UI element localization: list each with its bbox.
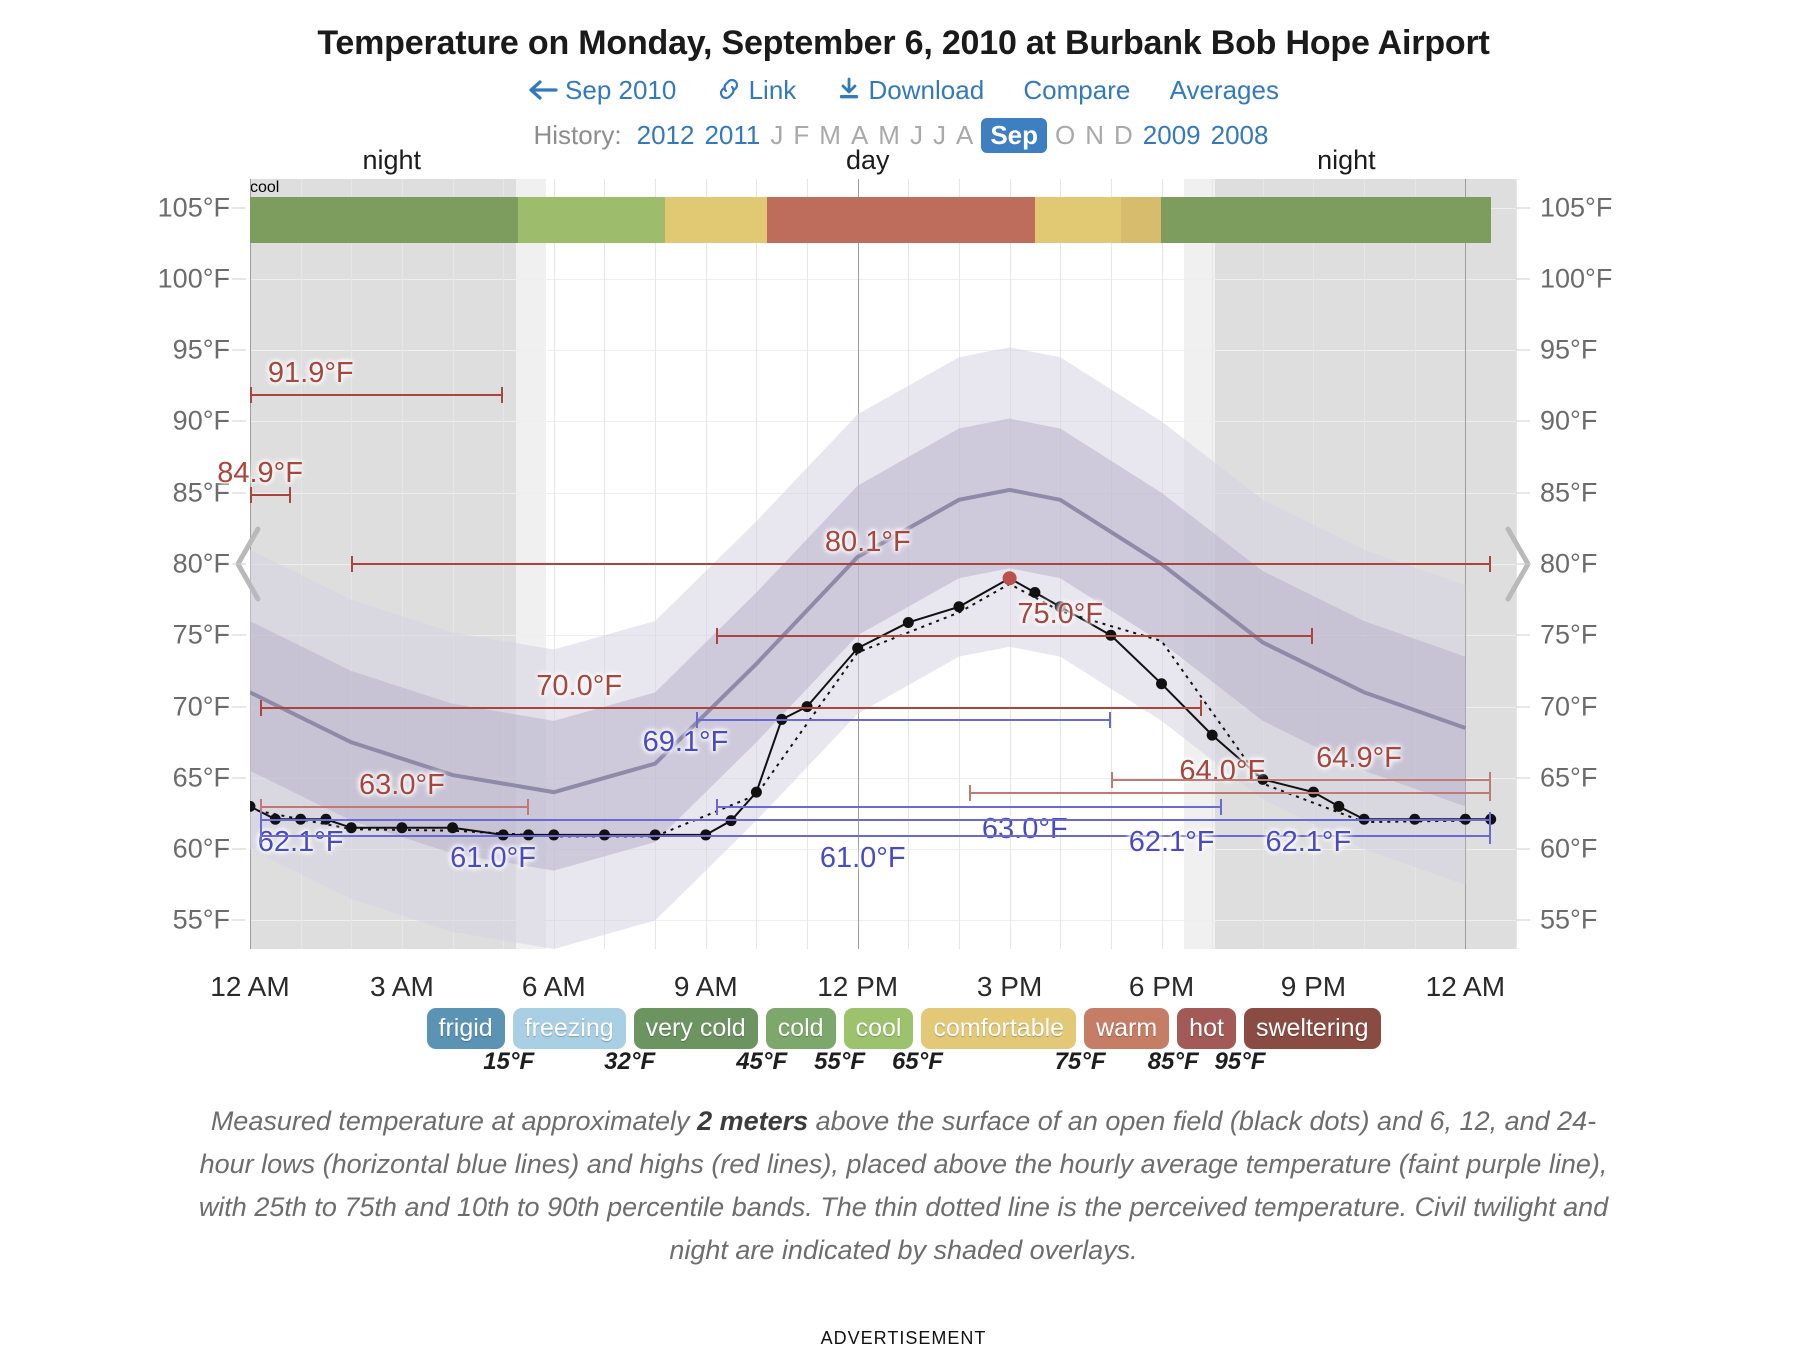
data-point	[1156, 678, 1167, 689]
legend-chip-comfortable[interactable]: comfortable	[921, 1008, 1076, 1049]
y-tick-label-left: 80°F	[173, 549, 230, 580]
y-tick-label-right: 70°F	[1540, 691, 1597, 722]
y-tick-label-right: 55°F	[1540, 905, 1597, 936]
link-label: Link	[749, 75, 797, 105]
advertisement-label: ADVERTISEMENT	[0, 1328, 1807, 1349]
data-point	[903, 617, 914, 628]
x-tick-label: 3 AM	[370, 971, 434, 1003]
high-marker-label: 84.9°F	[217, 457, 303, 490]
x-tick-label: 12 AM	[210, 971, 289, 1003]
x-tick-label: 12 PM	[817, 971, 898, 1003]
comfort-segment	[1161, 197, 1490, 243]
y-tick-mark	[1516, 421, 1530, 422]
page-title: Temperature on Monday, September 6, 2010…	[0, 0, 1807, 63]
legend-threshold-value: 15°F	[483, 1048, 534, 1076]
y-tick-label-left: 70°F	[173, 691, 230, 722]
y-tick-mark	[232, 421, 246, 422]
download-button[interactable]: Download	[836, 75, 985, 108]
data-point	[1333, 801, 1344, 812]
data-point	[1029, 587, 1040, 598]
y-tick-mark	[1516, 777, 1530, 778]
link-button[interactable]: Link	[716, 75, 797, 108]
day-night-band-label: night	[1202, 141, 1491, 179]
y-tick-label-right: 100°F	[1540, 263, 1612, 294]
legend-threshold-value: 85°F	[1148, 1048, 1199, 1076]
download-label: Download	[869, 75, 985, 105]
comfort-color-strip	[250, 197, 1516, 243]
legend-chip-hot[interactable]: hot	[1177, 1008, 1236, 1049]
y-tick-mark	[232, 706, 246, 707]
y-tick-mark	[1516, 278, 1530, 279]
comfort-segment	[665, 197, 766, 243]
y-tick-label-right: 80°F	[1540, 549, 1597, 580]
low-marker-label: 61.0°F	[820, 842, 906, 875]
y-tick-label-right: 95°F	[1540, 335, 1597, 366]
y-tick-mark	[232, 920, 246, 921]
x-tick-label: 9 AM	[674, 971, 738, 1003]
high-marker-label: 91.9°F	[268, 357, 354, 390]
high-marker-label: 70.0°F	[536, 670, 622, 703]
y-tick-mark	[1516, 635, 1530, 636]
y-tick-mark	[232, 849, 246, 850]
legend-threshold-value: 75°F	[1055, 1048, 1106, 1076]
low-marker-label: 61.0°F	[450, 842, 536, 875]
legend-chip-sweltering[interactable]: sweltering	[1244, 1008, 1381, 1049]
caption-emphasis: 2 meters	[697, 1106, 808, 1136]
data-point	[396, 822, 407, 833]
y-tick-label-left: 100°F	[158, 263, 230, 294]
legend-chip-very-cold[interactable]: very cold	[634, 1008, 758, 1049]
y-tick-label-right: 75°F	[1540, 620, 1597, 651]
temperature-chart: 105°F100°F95°F90°F85°F80°F75°F70°F65°F60…	[0, 159, 1807, 959]
y-tick-mark	[232, 777, 246, 778]
y-tick-label-right: 90°F	[1540, 406, 1597, 437]
data-point	[751, 787, 762, 798]
x-tick-label: 6 AM	[522, 971, 586, 1003]
high-marker-label: 75.0°F	[1017, 598, 1103, 631]
legend-threshold-value: 95°F	[1214, 1048, 1265, 1076]
weather-temperature-page: Temperature on Monday, September 6, 2010…	[0, 0, 1807, 1355]
data-point	[953, 601, 964, 612]
y-tick-label-right: 60°F	[1540, 834, 1597, 865]
y-tick-mark	[1516, 564, 1530, 565]
legend-threshold-value: 32°F	[604, 1048, 655, 1076]
y-tick-mark	[1516, 920, 1530, 921]
y-tick-mark	[232, 564, 246, 565]
day-night-band-label: night	[250, 141, 534, 179]
legend-threshold-value: 55°F	[814, 1048, 865, 1076]
chart-caption: Measured temperature at approximately 2 …	[194, 1100, 1614, 1272]
y-tick-label-left: 60°F	[173, 834, 230, 865]
y-tick-mark	[232, 350, 246, 351]
comfort-segment	[250, 197, 518, 243]
averages-button[interactable]: Averages	[1170, 75, 1279, 106]
y-tick-label-left: 65°F	[173, 762, 230, 793]
high-marker-label: 64.0°F	[1179, 755, 1265, 788]
caption-part1: Measured temperature at approximately	[211, 1106, 697, 1136]
plot-area: coolwarmcoolnightdaynight91.9°F84.9°F80.…	[250, 179, 1516, 949]
x-tick-label: 9 PM	[1281, 971, 1346, 1003]
legend-chip-cool[interactable]: cool	[844, 1008, 914, 1049]
y-axis-left: 105°F100°F95°F90°F85°F80°F75°F70°F65°F60…	[122, 179, 242, 949]
comfort-segment	[1035, 197, 1121, 243]
y-tick-mark	[232, 635, 246, 636]
nav-month-label: Sep 2010	[565, 75, 676, 105]
legend-chip-frigid[interactable]: frigid	[427, 1008, 505, 1049]
y-tick-label-left: 90°F	[173, 406, 230, 437]
y-tick-mark	[1516, 849, 1530, 850]
legend-threshold-value: 45°F	[736, 1048, 787, 1076]
y-tick-label-left: 105°F	[158, 192, 230, 223]
x-tick-label: 12 AM	[1426, 971, 1505, 1003]
data-point	[447, 822, 458, 833]
y-tick-mark	[232, 207, 246, 208]
legend-threshold-value: 65°F	[892, 1048, 943, 1076]
comfort-thresholds: 15°F32°F45°F55°F65°F75°F85°F95°F	[0, 1048, 1807, 1088]
y-tick-label-left: 55°F	[173, 905, 230, 936]
high-marker-label: 80.1°F	[825, 526, 911, 559]
data-point	[852, 643, 863, 654]
comfort-segment	[518, 197, 665, 243]
data-point	[1003, 571, 1017, 585]
low-marker-label: 62.1°F	[1129, 826, 1215, 859]
comfort-segment	[767, 197, 1035, 243]
data-point	[1207, 730, 1218, 741]
legend-chip-warm[interactable]: warm	[1084, 1008, 1169, 1049]
link-icon	[716, 77, 742, 108]
low-marker-label: 69.1°F	[643, 726, 729, 759]
high-marker-label: 64.9°F	[1316, 742, 1402, 775]
low-marker-label: 62.1°F	[258, 826, 344, 859]
toolbar: Sep 2010 Link Download Compare Averages	[0, 75, 1807, 108]
y-tick-label-right: 85°F	[1540, 477, 1597, 508]
y-tick-mark	[1516, 350, 1530, 351]
x-tick-label: 6 PM	[1129, 971, 1194, 1003]
comfort-legend: frigidfreezingvery coldcoldcoolcomfortab…	[0, 1008, 1807, 1049]
nav-month-button[interactable]: Sep 2010	[528, 75, 676, 108]
y-tick-label-right: 65°F	[1540, 762, 1597, 793]
arrow-left-icon	[528, 77, 558, 108]
high-marker-label: 63.0°F	[359, 769, 445, 802]
comfort-segment	[1121, 197, 1162, 243]
y-tick-mark	[232, 492, 246, 493]
compare-button[interactable]: Compare	[1023, 75, 1130, 106]
x-tick-label: 3 PM	[977, 971, 1042, 1003]
y-axis-right: 105°F100°F95°F90°F85°F80°F75°F70°F65°F60…	[1528, 179, 1648, 949]
download-icon	[836, 77, 862, 108]
low-marker-label: 62.1°F	[1265, 826, 1351, 859]
y-tick-mark	[232, 278, 246, 279]
y-tick-label-right: 105°F	[1540, 192, 1612, 223]
y-tick-label-left: 95°F	[173, 335, 230, 366]
day-night-band-label: day	[534, 141, 1202, 179]
legend-chip-freezing[interactable]: freezing	[513, 1008, 626, 1049]
y-tick-label-left: 75°F	[173, 620, 230, 651]
y-tick-mark	[1516, 207, 1530, 208]
data-point	[346, 822, 357, 833]
y-tick-mark	[1516, 492, 1530, 493]
y-tick-mark	[1516, 706, 1530, 707]
legend-chip-cold[interactable]: cold	[766, 1008, 836, 1049]
